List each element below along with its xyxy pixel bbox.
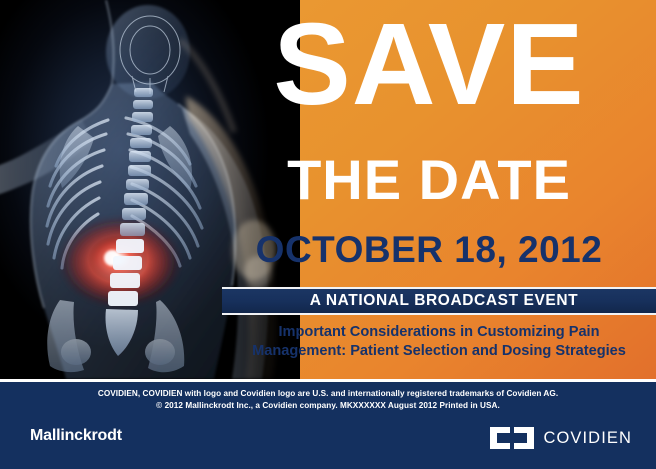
program-subtitle: Important Considerations in Customizing … <box>222 323 656 362</box>
brand-row: Mallinckrodt COVIDIEN <box>0 424 656 458</box>
covidien-mark-icon <box>490 427 534 449</box>
program-subtitle-line-2: Management: Patient Selection and Dosing… <box>228 342 650 361</box>
covidien-logo-lockup: COVIDIEN <box>490 427 632 449</box>
mallinckrodt-logo: Mallinckrodt <box>30 427 122 445</box>
headline-the-date: THE DATE <box>216 152 642 208</box>
broadcast-event-band: A NATIONAL BROADCAST EVENT <box>222 287 656 315</box>
headline-save: SAVE <box>216 6 642 122</box>
broadcast-event-label: A NATIONAL BROADCAST EVENT <box>300 292 578 310</box>
poster-hero: SAVE THE DATE OCTOBER 18, 2012 A NATIONA… <box>0 0 656 379</box>
legal-text: COVIDIEN, COVIDIEN with logo and Covidie… <box>0 388 656 413</box>
program-subtitle-line-1: Important Considerations in Customizing … <box>228 323 650 342</box>
poster-footer: COVIDIEN, COVIDIEN with logo and Covidie… <box>0 382 656 469</box>
legal-line-1: COVIDIEN, COVIDIEN with logo and Covidie… <box>0 388 656 400</box>
legal-line-2: © 2012 Mallinckrodt Inc., a Covidien com… <box>0 400 656 412</box>
event-date: OCTOBER 18, 2012 <box>216 231 642 268</box>
save-the-date-poster: SAVE THE DATE OCTOBER 18, 2012 A NATIONA… <box>0 0 656 469</box>
covidien-wordmark: COVIDIEN <box>543 429 632 448</box>
